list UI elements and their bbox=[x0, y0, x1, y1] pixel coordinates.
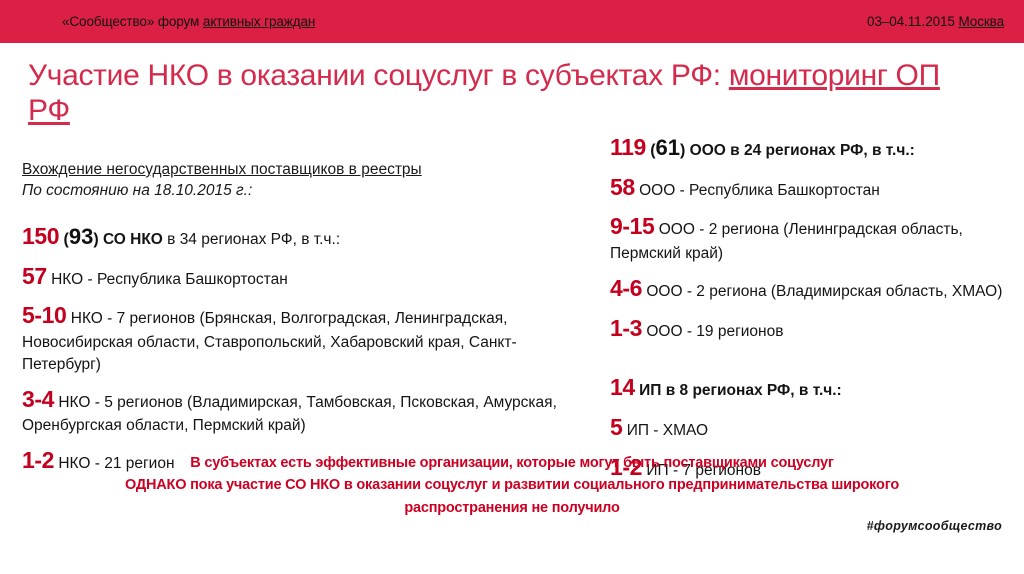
stat-row: 9-15 ООО - 2 региона (Ленинградская обла… bbox=[610, 210, 1010, 265]
stat-emphasis-text: ИП в 8 регионах РФ, в т.ч.: bbox=[639, 382, 842, 399]
left-column-date-note: По состоянию на 18.10.2015 г.: bbox=[22, 181, 592, 202]
stat-number: 9-15 bbox=[610, 213, 654, 239]
conclusion-line-1: В субъектах есть эффективные организации… bbox=[24, 452, 1000, 474]
stat-number: 1-3 bbox=[610, 315, 642, 341]
stat-row: 1-3 ООО - 19 регионов bbox=[610, 312, 1010, 345]
event-name-plain: «Сообщество» форум bbox=[62, 14, 203, 29]
right-column: 119 (61) ООО в 24 регионах РФ, в т.ч.: 5… bbox=[610, 131, 1010, 490]
left-column-subheading: Вхождение негосударственных поставщиков … bbox=[22, 160, 592, 181]
stat-text: ООО - 2 региона (Ленинградская область, … bbox=[610, 221, 963, 262]
event-name-underlined: активных граждан bbox=[203, 14, 315, 29]
stat-emphasis-text: СО НКО bbox=[103, 231, 163, 248]
stat-row: 4-6 ООО - 2 региона (Владимирская област… bbox=[610, 272, 1010, 305]
column-group-divider bbox=[610, 351, 1010, 371]
conclusion-line-2: ОДНАКО пока участие СО НКО в оказании со… bbox=[24, 474, 1000, 496]
stat-emphasis-text: ООО в 24 регионах РФ, в т.ч.: bbox=[690, 142, 915, 159]
forum-hashtag: #форумсообщество bbox=[867, 519, 1002, 533]
stat-number: 3-4 bbox=[22, 386, 54, 412]
slide: «Сообщество» форум активных граждан 03–0… bbox=[0, 0, 1024, 574]
stat-secondary-number: (61) bbox=[650, 142, 685, 159]
stat-text: НКО - Республика Башкортостан bbox=[51, 271, 288, 288]
stat-text: ООО - 2 региона (Владимирская область, Х… bbox=[646, 283, 1002, 300]
page-title: Участие НКО в оказании соцуслуг в субъек… bbox=[28, 58, 978, 129]
stat-text: ИП - ХМАО bbox=[627, 422, 708, 439]
stat-secondary-number: (93) bbox=[64, 231, 99, 248]
stat-number: 119 bbox=[610, 134, 646, 160]
page-title-plain: Участие НКО в оказании соцуслуг в субъек… bbox=[28, 59, 729, 92]
event-date: 03–04.11.2015 bbox=[867, 14, 958, 29]
stat-text: НКО - 5 регионов (Владимирская, Тамбовск… bbox=[22, 394, 557, 435]
left-column: Вхождение негосударственных поставщиков … bbox=[22, 160, 592, 484]
event-name: «Сообщество» форум активных граждан bbox=[62, 14, 315, 29]
stat-number: 58 bbox=[610, 174, 635, 200]
top-header-bar: «Сообщество» форум активных граждан 03–0… bbox=[0, 0, 1024, 43]
stat-row: 58 ООО - Республика Башкортостан bbox=[610, 171, 1010, 204]
event-city: Москва bbox=[959, 14, 1005, 29]
stat-row: 3-4 НКО - 5 регионов (Владимирская, Тамб… bbox=[22, 383, 592, 438]
left-column-stat-list: 150 (93) СО НКО в 34 регионах РФ, в т.ч.… bbox=[22, 220, 592, 477]
stat-row: 150 (93) СО НКО в 34 регионах РФ, в т.ч.… bbox=[22, 220, 592, 253]
event-date-location: 03–04.11.2015 Москва bbox=[867, 14, 1004, 29]
stat-number: 5-10 bbox=[22, 302, 66, 328]
stat-number: 150 bbox=[22, 223, 59, 249]
stat-row: 5-10 НКО - 7 регионов (Брянская, Волгогр… bbox=[22, 299, 592, 376]
stat-text: ООО - Республика Башкортостан bbox=[639, 182, 880, 199]
stat-row: 119 (61) ООО в 24 регионах РФ, в т.ч.: bbox=[610, 131, 1010, 164]
stat-number: 4-6 bbox=[610, 275, 642, 301]
stat-row: 5 ИП - ХМАО bbox=[610, 411, 1010, 444]
stat-row: 14 ИП в 8 регионах РФ, в т.ч.: bbox=[610, 371, 1010, 404]
stat-number: 14 bbox=[610, 374, 635, 400]
right-column-ooo-group: 119 (61) ООО в 24 регионах РФ, в т.ч.: 5… bbox=[610, 131, 1010, 344]
stat-text: НКО - 7 регионов (Брянская, Волгоградска… bbox=[22, 310, 517, 373]
conclusion-block: В субъектах есть эффективные организации… bbox=[24, 452, 1000, 519]
stat-number: 5 bbox=[610, 414, 622, 440]
stat-number: 57 bbox=[22, 263, 47, 289]
stat-text: в 34 регионах РФ, в т.ч.: bbox=[163, 231, 340, 248]
stat-text: ООО - 19 регионов bbox=[646, 323, 783, 340]
stat-row: 57 НКО - Республика Башкортостан bbox=[22, 260, 592, 293]
conclusion-line-3: распространения не получило bbox=[24, 497, 1000, 519]
